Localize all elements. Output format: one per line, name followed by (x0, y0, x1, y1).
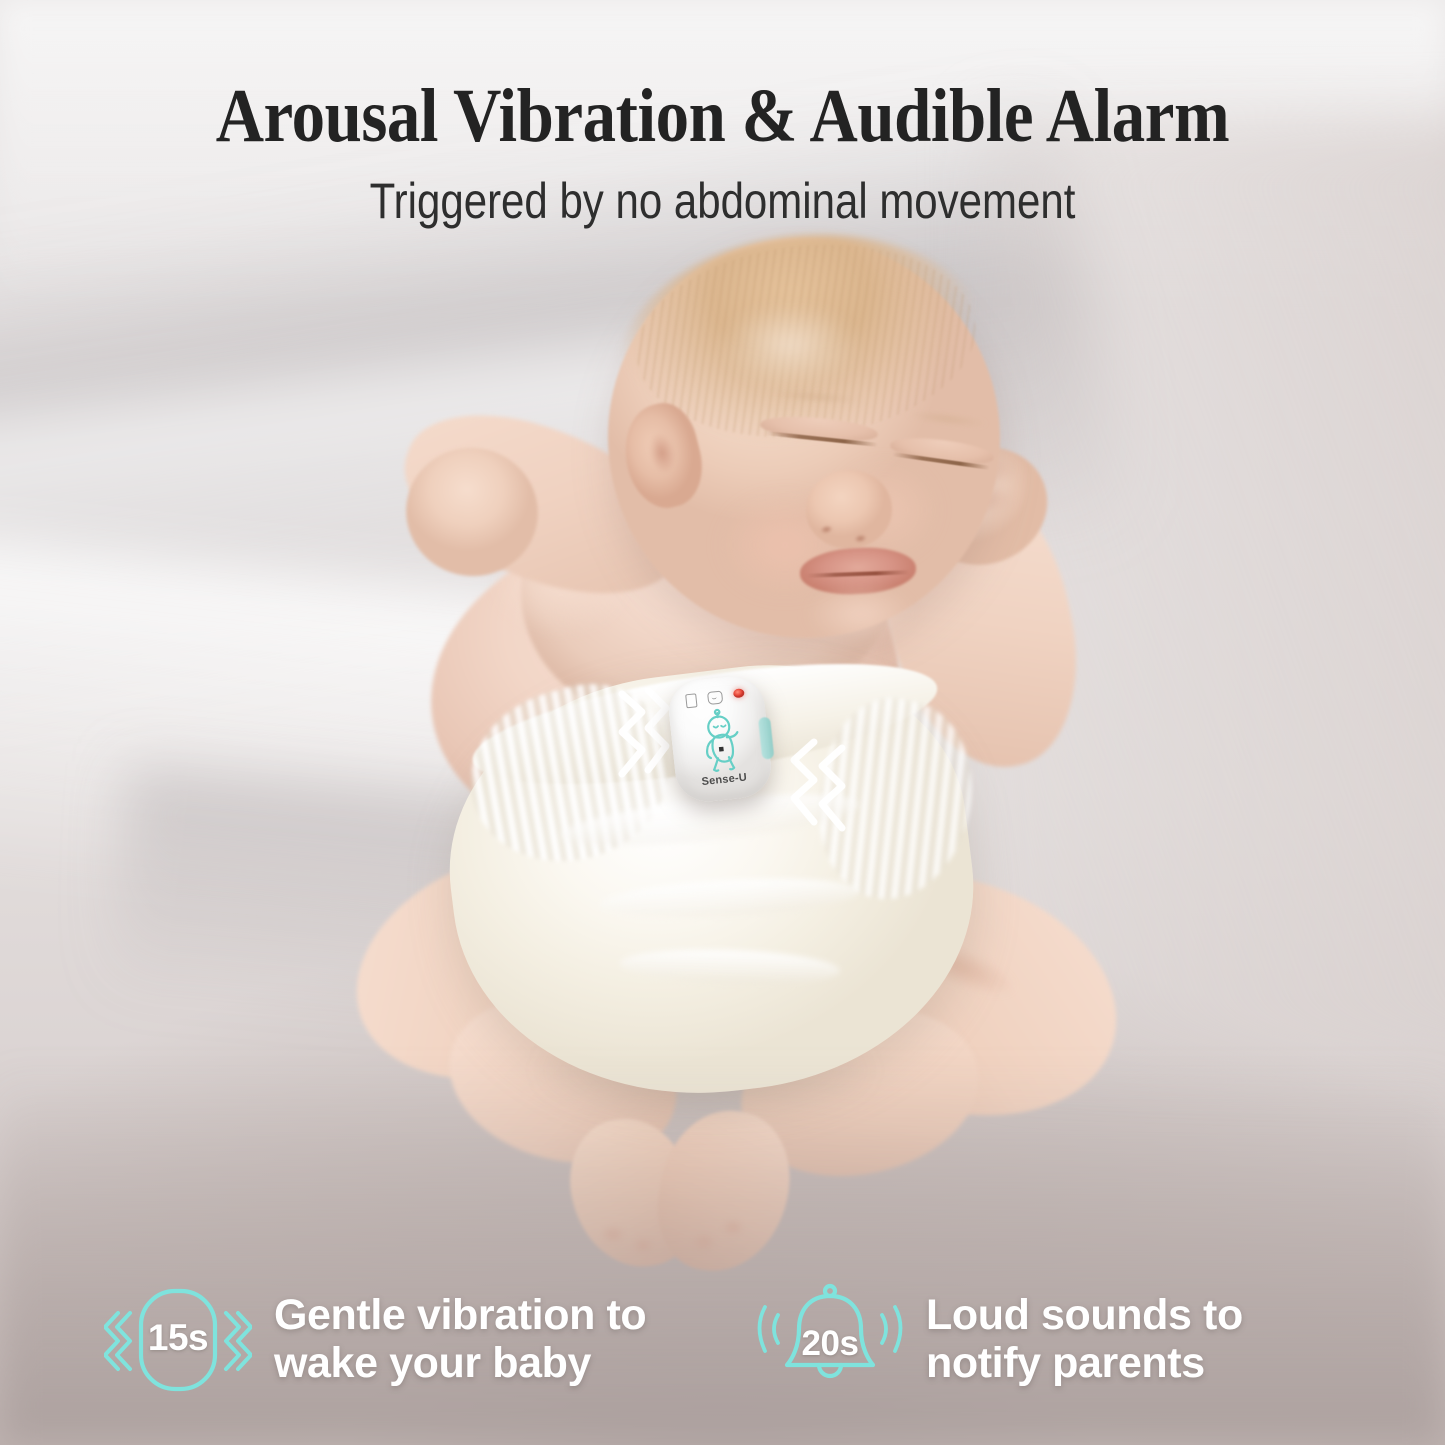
vibration-waves-left (608, 688, 674, 784)
alarm-feature-text: Loud sounds to notify parents (926, 1291, 1243, 1387)
alarm-duration-label: 20s (756, 1324, 904, 1364)
baby-outline-logo-icon (688, 705, 753, 782)
page-title: Arousal Vibration & Audible Alarm (87, 78, 1359, 154)
battery-icon (685, 693, 697, 708)
baby-chin (786, 578, 936, 664)
led-indicator-icon (733, 688, 745, 698)
feature-callouts: 15s Gentle vibration to wake your baby 2… (0, 1269, 1445, 1409)
page-subtitle: Triggered by no abdominal movement (116, 176, 1330, 226)
forehead-highlight (690, 286, 890, 406)
vibration-duration-label: 15s (104, 1317, 252, 1359)
signal-icon (707, 691, 723, 705)
vibration-feature-line1: Gentle vibration to (274, 1291, 646, 1339)
bell-alarm-icon: 20s (756, 1279, 904, 1399)
alarm-feature-line2: notify parents (926, 1339, 1243, 1387)
alarm-feature-line1: Loud sounds to (926, 1291, 1243, 1339)
vibration-waves-right (784, 736, 856, 834)
product-feature-image: Sense-U Arousal Vibration & Audible Alar… (0, 0, 1445, 1445)
vibration-pill-icon: 15s (104, 1279, 252, 1399)
feature-vibration: 15s Gentle vibration to wake your baby (104, 1279, 664, 1399)
sense-u-monitor-device[interactable]: Sense-U (666, 673, 774, 804)
vibration-feature-line2: wake your baby (274, 1339, 646, 1387)
vibration-feature-text: Gentle vibration to wake your baby (274, 1291, 646, 1387)
feature-alarm: 20s Loud sounds to notify parents (756, 1279, 1316, 1399)
